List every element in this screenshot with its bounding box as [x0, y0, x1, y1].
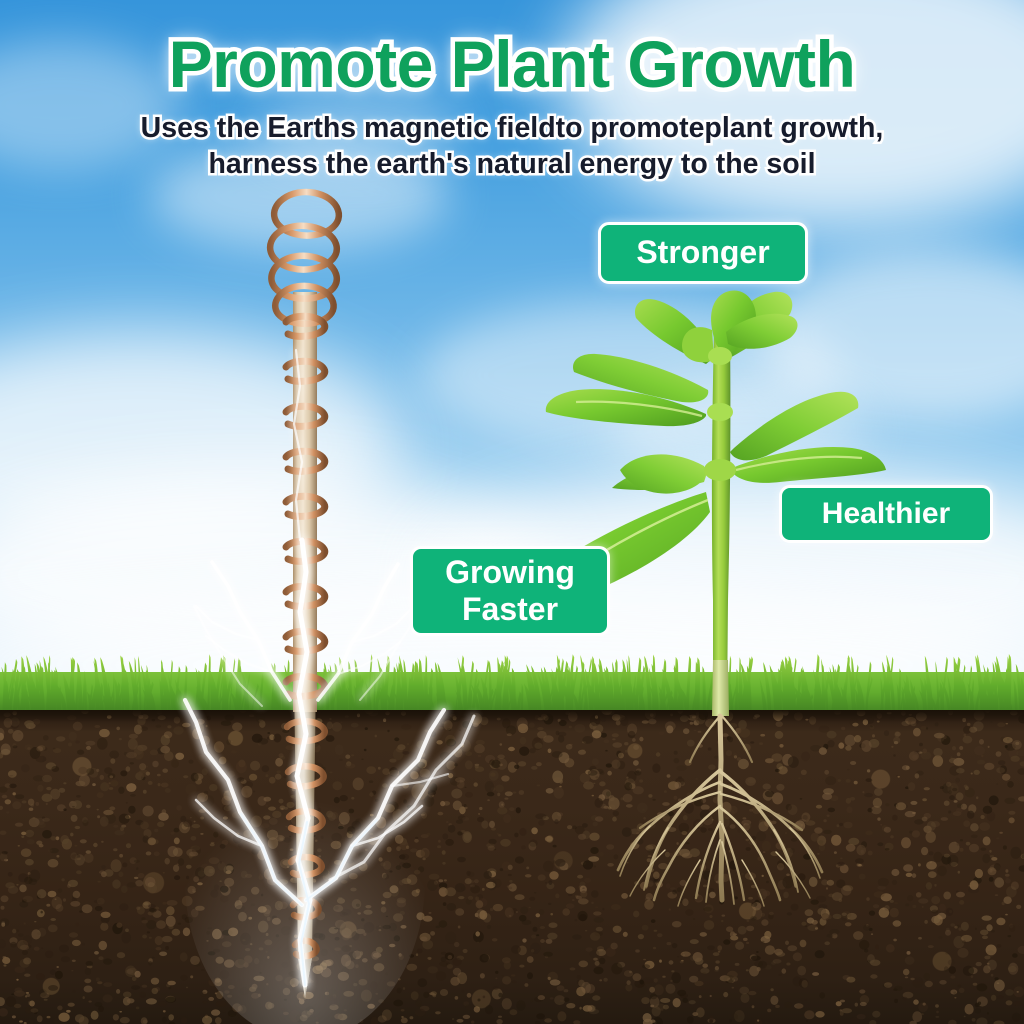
badge-growing-faster: Growing Faster: [410, 546, 610, 636]
root-system: [618, 716, 822, 906]
infographic-canvas: Promote Plant Growth Uses the Earths mag…: [0, 0, 1024, 1024]
subtitle-line-2: harness the earth's natural energy to th…: [60, 146, 964, 182]
badge-growing-line-2: Faster: [445, 591, 575, 628]
page-title: Promote Plant Growth: [0, 26, 1024, 102]
badge-growing-line-1: Growing: [445, 554, 575, 591]
page-subtitle: Uses the Earths magnetic fieldto promote…: [60, 110, 964, 182]
subtitle-line-1: Uses the Earths magnetic fieldto promote…: [60, 110, 964, 146]
badge-stronger: Stronger: [598, 222, 808, 284]
badge-healthier: Healthier: [779, 485, 993, 543]
